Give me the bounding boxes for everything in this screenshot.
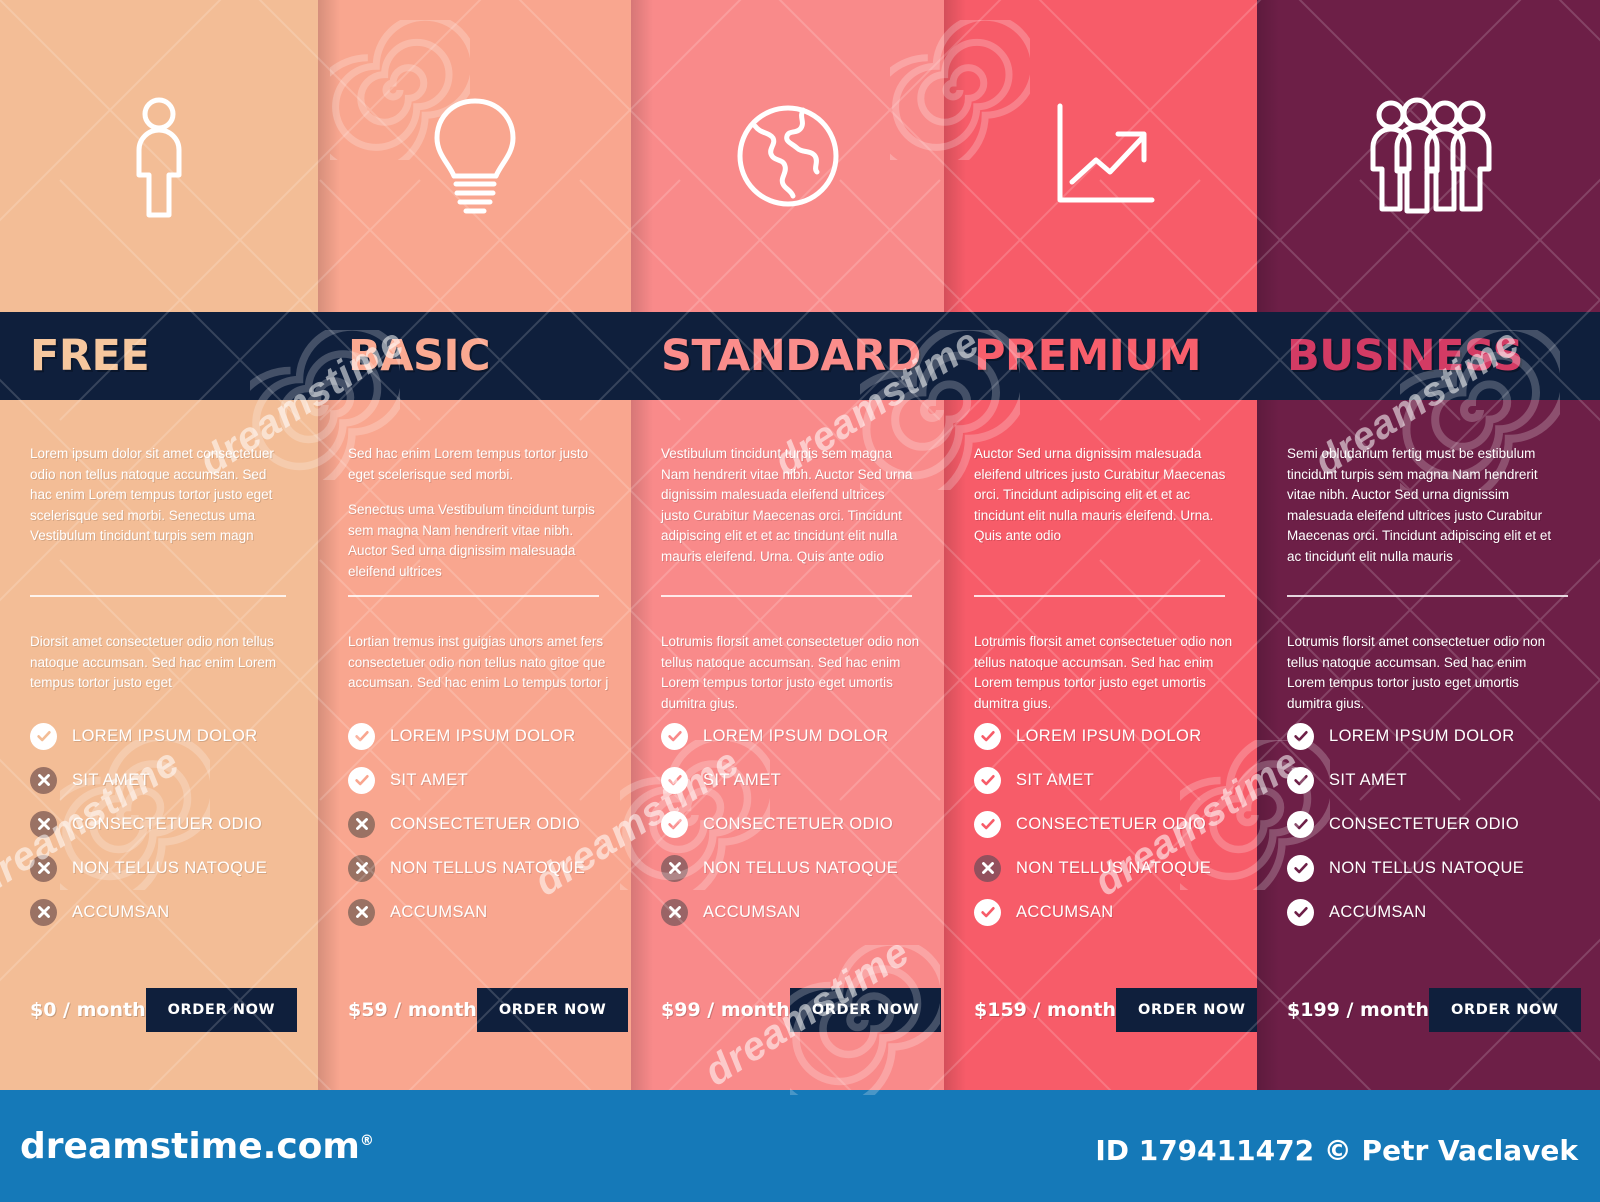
feature-row: ACCUMSAN bbox=[348, 890, 613, 934]
plan-footer: $199 / month ORDER NOW bbox=[1287, 988, 1576, 1032]
feature-list: LOREM IPSUM DOLOR SIT AMET CONSECTETUER … bbox=[30, 714, 300, 934]
feature-row: SIT AMET bbox=[348, 758, 613, 802]
feature-list: LOREM IPSUM DOLOR SIT AMET CONSECTETUER … bbox=[348, 714, 613, 934]
plan-subdescription: Diorsit amet consectetuer odio non tellu… bbox=[30, 632, 292, 694]
feature-label: CONSECTETUER ODIO bbox=[1016, 815, 1206, 834]
feature-row: ACCUMSAN bbox=[30, 890, 300, 934]
check-icon bbox=[1293, 772, 1309, 788]
cross-icon bbox=[37, 817, 51, 831]
check-icon-badge bbox=[974, 723, 1001, 750]
feature-label: SIT AMET bbox=[1329, 771, 1407, 790]
plan-description: Lorem ipsum dolor sit amet consectetuer … bbox=[30, 444, 288, 547]
feature-label: NON TELLUS NATOQUE bbox=[390, 859, 585, 878]
feature-row: SIT AMET bbox=[661, 758, 926, 802]
feature-label: CONSECTETUER ODIO bbox=[703, 815, 893, 834]
feature-row: ACCUMSAN bbox=[974, 890, 1239, 934]
plan-subdescription: Lortian tremus inst guigias unors amet f… bbox=[348, 632, 610, 694]
plan-title-cell-free: FREE bbox=[0, 312, 318, 400]
check-icon-badge bbox=[1287, 723, 1314, 750]
plan-icon-area bbox=[631, 0, 944, 312]
plan-body: Semi obludarium fertig must be estibulum… bbox=[1257, 400, 1600, 1090]
globe-icon bbox=[733, 100, 843, 213]
check-icon-badge bbox=[974, 767, 1001, 794]
plan-description-paragraph: Vestibulum tincidunt turpis sem magna Na… bbox=[661, 444, 914, 567]
registered-mark: ® bbox=[360, 1133, 374, 1149]
plan-title-cell-standard: STANDARD bbox=[631, 312, 944, 400]
feature-row: ACCUMSAN bbox=[661, 890, 926, 934]
plan-title: BASIC bbox=[348, 335, 490, 378]
plan-footer: $0 / month ORDER NOW bbox=[30, 988, 294, 1032]
cross-icon-badge bbox=[348, 855, 375, 882]
plan-description: Sed hac enim Lorem tempus tortor justo e… bbox=[348, 444, 601, 582]
cross-icon-badge bbox=[974, 855, 1001, 882]
section-divider bbox=[1287, 595, 1568, 597]
plan-description-paragraph: Semi obludarium fertig must be estibulum… bbox=[1287, 444, 1555, 567]
feature-row: SIT AMET bbox=[974, 758, 1239, 802]
pricing-column-business: Semi obludarium fertig must be estibulum… bbox=[1257, 0, 1600, 1090]
order-now-button[interactable]: ORDER NOW bbox=[1429, 988, 1581, 1032]
plan-price: $159 / month bbox=[974, 999, 1116, 1021]
check-icon bbox=[667, 816, 683, 832]
feature-label: NON TELLUS NATOQUE bbox=[72, 859, 267, 878]
section-divider bbox=[661, 595, 912, 597]
growth-chart-icon bbox=[1046, 102, 1156, 210]
cross-icon-badge bbox=[30, 767, 57, 794]
plan-description-paragraph: Lorem ipsum dolor sit amet consectetuer … bbox=[30, 444, 288, 547]
cross-icon bbox=[668, 905, 682, 919]
check-icon bbox=[1293, 728, 1309, 744]
check-icon-badge bbox=[1287, 899, 1314, 926]
cross-icon bbox=[355, 905, 369, 919]
feature-label: ACCUMSAN bbox=[72, 903, 170, 922]
feature-row: NON TELLUS NATOQUE bbox=[974, 846, 1239, 890]
pricing-table-image: Lorem ipsum dolor sit amet consectetuer … bbox=[0, 0, 1600, 1202]
check-icon bbox=[1293, 816, 1309, 832]
feature-label: LOREM IPSUM DOLOR bbox=[1016, 727, 1202, 746]
plan-price: $59 / month bbox=[348, 999, 477, 1021]
plan-title-cell-business: BUSINESS bbox=[1257, 312, 1600, 400]
plan-subdescription: Lotrumis florsit amet consectetuer odio … bbox=[974, 632, 1236, 714]
plan-title: FREE bbox=[30, 335, 149, 378]
feature-label: NON TELLUS NATOQUE bbox=[1329, 859, 1524, 878]
feature-row: LOREM IPSUM DOLOR bbox=[30, 714, 300, 758]
check-icon bbox=[980, 904, 996, 920]
feature-row: LOREM IPSUM DOLOR bbox=[1287, 714, 1582, 758]
check-icon-badge bbox=[30, 723, 57, 750]
check-icon-badge bbox=[1287, 855, 1314, 882]
section-divider bbox=[974, 595, 1225, 597]
feature-label: LOREM IPSUM DOLOR bbox=[703, 727, 889, 746]
feature-list: LOREM IPSUM DOLOR SIT AMET CONSECTETUER … bbox=[1287, 714, 1582, 934]
plan-body: Sed hac enim Lorem tempus tortor justo e… bbox=[318, 400, 631, 1090]
plan-subdescription: Lotrumis florsit amet consectetuer odio … bbox=[661, 632, 923, 714]
plan-title: BUSINESS bbox=[1287, 335, 1523, 378]
check-icon-badge bbox=[348, 723, 375, 750]
check-icon bbox=[980, 816, 996, 832]
pricing-column-premium: Auctor Sed urna dignissim malesuada elei… bbox=[944, 0, 1257, 1090]
people-group-icon bbox=[1359, 97, 1499, 215]
feature-label: NON TELLUS NATOQUE bbox=[1016, 859, 1211, 878]
feature-row: CONSECTETUER ODIO bbox=[661, 802, 926, 846]
feature-label: SIT AMET bbox=[1016, 771, 1094, 790]
plan-icon-area bbox=[318, 0, 631, 312]
plan-description: Auctor Sed urna dignissim malesuada elei… bbox=[974, 444, 1227, 547]
check-icon bbox=[980, 728, 996, 744]
feature-list: LOREM IPSUM DOLOR SIT AMET CONSECTETUER … bbox=[661, 714, 926, 934]
feature-label: SIT AMET bbox=[390, 771, 468, 790]
plan-icon-area bbox=[1257, 0, 1600, 312]
plan-price: $0 / month bbox=[30, 999, 146, 1021]
feature-row: NON TELLUS NATOQUE bbox=[30, 846, 300, 890]
feature-row: LOREM IPSUM DOLOR bbox=[974, 714, 1239, 758]
pricing-column-basic: Sed hac enim Lorem tempus tortor justo e… bbox=[318, 0, 631, 1090]
check-icon-badge bbox=[661, 723, 688, 750]
feature-label: LOREM IPSUM DOLOR bbox=[1329, 727, 1515, 746]
section-divider bbox=[348, 595, 599, 597]
pricing-columns-board: Lorem ipsum dolor sit amet consectetuer … bbox=[0, 0, 1600, 1090]
cross-icon bbox=[981, 861, 995, 875]
lightbulb-icon bbox=[427, 94, 523, 219]
feature-list: LOREM IPSUM DOLOR SIT AMET CONSECTETUER … bbox=[974, 714, 1239, 934]
pricing-column-standard: Vestibulum tincidunt turpis sem magna Na… bbox=[631, 0, 944, 1090]
plan-description-paragraph: Senectus uma Vestibulum tincidunt turpis… bbox=[348, 500, 601, 582]
plan-footer: $59 / month ORDER NOW bbox=[348, 988, 607, 1032]
plan-description-paragraph: Auctor Sed urna dignissim malesuada elei… bbox=[974, 444, 1227, 547]
order-now-button[interactable]: ORDER NOW bbox=[477, 988, 629, 1032]
cross-icon bbox=[355, 817, 369, 831]
cross-icon-badge bbox=[30, 899, 57, 926]
feature-label: LOREM IPSUM DOLOR bbox=[72, 727, 258, 746]
plan-footer: $159 / month ORDER NOW bbox=[974, 988, 1233, 1032]
plan-description-paragraph: Sed hac enim Lorem tempus tortor justo e… bbox=[348, 444, 601, 485]
check-icon-badge bbox=[661, 767, 688, 794]
feature-label: LOREM IPSUM DOLOR bbox=[390, 727, 576, 746]
stock-watermark-bar: dreamstime.com® ID 179411472 © Petr Vacl… bbox=[0, 1090, 1600, 1202]
feature-row: SIT AMET bbox=[30, 758, 300, 802]
plan-footer: $99 / month ORDER NOW bbox=[661, 988, 920, 1032]
feature-label: SIT AMET bbox=[703, 771, 781, 790]
feature-row: CONSECTETUER ODIO bbox=[1287, 802, 1582, 846]
cross-icon bbox=[37, 773, 51, 787]
dreamstime-logo-text: dreamstime.com bbox=[20, 1126, 360, 1167]
check-icon-badge bbox=[1287, 811, 1314, 838]
feature-row: LOREM IPSUM DOLOR bbox=[348, 714, 613, 758]
check-icon-badge bbox=[1287, 767, 1314, 794]
plan-icon-area bbox=[0, 0, 318, 312]
plan-body: Auctor Sed urna dignissim malesuada elei… bbox=[944, 400, 1257, 1090]
plan-description: Semi obludarium fertig must be estibulum… bbox=[1287, 444, 1555, 567]
cross-icon-badge bbox=[661, 899, 688, 926]
cross-icon-badge bbox=[661, 855, 688, 882]
feature-row: ACCUMSAN bbox=[1287, 890, 1582, 934]
cross-icon-badge bbox=[30, 855, 57, 882]
feature-row: CONSECTETUER ODIO bbox=[974, 802, 1239, 846]
plan-title: PREMIUM bbox=[974, 335, 1201, 378]
feature-row: NON TELLUS NATOQUE bbox=[661, 846, 926, 890]
cross-icon-badge bbox=[348, 811, 375, 838]
feature-label: CONSECTETUER ODIO bbox=[390, 815, 580, 834]
feature-row: NON TELLUS NATOQUE bbox=[348, 846, 613, 890]
plan-description: Vestibulum tincidunt turpis sem magna Na… bbox=[661, 444, 914, 567]
pricing-column-free: Lorem ipsum dolor sit amet consectetuer … bbox=[0, 0, 318, 1090]
cross-icon-badge bbox=[348, 899, 375, 926]
feature-label: ACCUMSAN bbox=[703, 903, 801, 922]
cross-icon-badge bbox=[30, 811, 57, 838]
dreamstime-logo: dreamstime.com® bbox=[20, 1126, 374, 1167]
feature-row: CONSECTETUER ODIO bbox=[348, 802, 613, 846]
check-icon bbox=[354, 772, 370, 788]
section-divider bbox=[30, 595, 286, 597]
plan-subdescription: Lotrumis florsit amet consectetuer odio … bbox=[1287, 632, 1549, 714]
plan-title-cell-premium: PREMIUM bbox=[944, 312, 1257, 400]
cross-icon bbox=[355, 861, 369, 875]
check-icon bbox=[980, 772, 996, 788]
cross-icon bbox=[668, 861, 682, 875]
order-now-button[interactable]: ORDER NOW bbox=[790, 988, 942, 1032]
plan-icon-area bbox=[944, 0, 1257, 312]
check-icon-badge bbox=[348, 767, 375, 794]
image-credit: ID 179411472 © Petr Vaclavek bbox=[1095, 1134, 1578, 1167]
cross-icon bbox=[37, 861, 51, 875]
plan-body: Lorem ipsum dolor sit amet consectetuer … bbox=[0, 400, 318, 1090]
check-icon bbox=[667, 772, 683, 788]
plan-title: STANDARD bbox=[661, 335, 921, 378]
feature-label: SIT AMET bbox=[72, 771, 150, 790]
check-icon bbox=[667, 728, 683, 744]
plan-title-cell-basic: BASIC bbox=[318, 312, 631, 400]
feature-row: NON TELLUS NATOQUE bbox=[1287, 846, 1582, 890]
plan-body: Vestibulum tincidunt turpis sem magna Na… bbox=[631, 400, 944, 1090]
feature-row: LOREM IPSUM DOLOR bbox=[661, 714, 926, 758]
order-now-button[interactable]: ORDER NOW bbox=[1116, 988, 1257, 1032]
feature-row: SIT AMET bbox=[1287, 758, 1582, 802]
feature-row: CONSECTETUER ODIO bbox=[30, 802, 300, 846]
feature-label: CONSECTETUER ODIO bbox=[1329, 815, 1519, 834]
feature-label: ACCUMSAN bbox=[1329, 903, 1427, 922]
check-icon-badge bbox=[974, 899, 1001, 926]
order-now-button[interactable]: ORDER NOW bbox=[146, 988, 298, 1032]
person-icon bbox=[120, 94, 198, 219]
check-icon bbox=[1293, 904, 1309, 920]
check-icon bbox=[1293, 860, 1309, 876]
feature-label: ACCUMSAN bbox=[1016, 903, 1114, 922]
feature-label: ACCUMSAN bbox=[390, 903, 488, 922]
feature-label: CONSECTETUER ODIO bbox=[72, 815, 262, 834]
check-icon-badge bbox=[974, 811, 1001, 838]
plan-price: $199 / month bbox=[1287, 999, 1429, 1021]
feature-label: NON TELLUS NATOQUE bbox=[703, 859, 898, 878]
cross-icon bbox=[37, 905, 51, 919]
check-icon-badge bbox=[661, 811, 688, 838]
plan-price: $99 / month bbox=[661, 999, 790, 1021]
check-icon bbox=[354, 728, 370, 744]
check-icon bbox=[36, 728, 52, 744]
